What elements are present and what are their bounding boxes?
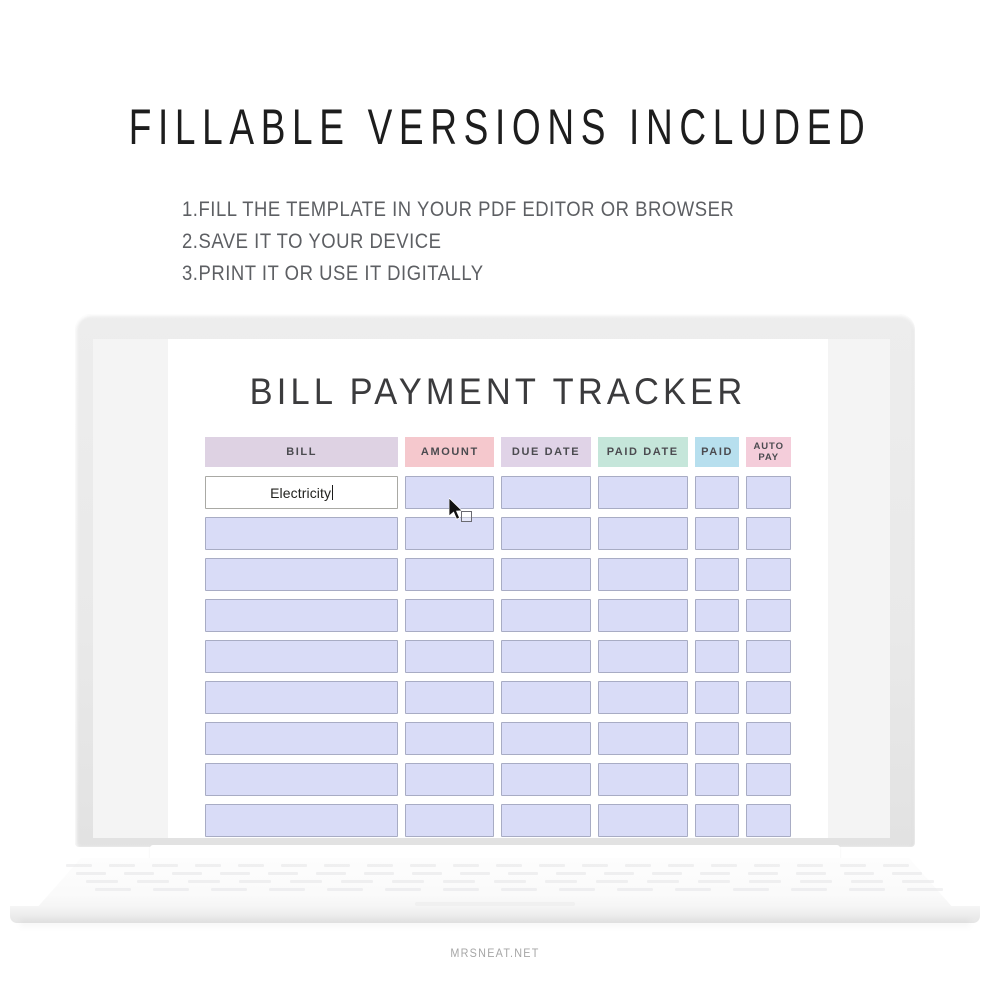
paid-input[interactable] (695, 476, 740, 509)
laptop-key (496, 864, 522, 867)
laptop-key (907, 888, 943, 891)
auto-pay-input[interactable] (746, 722, 791, 755)
paid-date-input[interactable] (598, 599, 688, 632)
column-header-amount: AMOUNT (405, 437, 494, 467)
bill-input-value: Electricity (270, 485, 331, 501)
auto-pay-input[interactable] (746, 558, 791, 591)
laptop-key (851, 880, 883, 883)
column-header-bill: BILL (205, 437, 398, 467)
table-row (205, 763, 791, 796)
laptop-shadow (20, 920, 970, 929)
laptop-key (364, 872, 394, 875)
bill-input[interactable] (205, 722, 398, 755)
laptop-key (152, 864, 178, 867)
bill-input[interactable] (205, 681, 398, 714)
laptop-key (617, 888, 653, 891)
document-page: BILL PAYMENT TRACKER BILL AMOUNT DUE DAT… (168, 339, 828, 838)
laptop-key (675, 888, 711, 891)
text-caret (332, 485, 333, 500)
laptop-key (327, 888, 363, 891)
bill-input[interactable] (205, 558, 398, 591)
laptop-key (188, 880, 220, 883)
laptop-screen: BILL PAYMENT TRACKER BILL AMOUNT DUE DAT… (93, 339, 890, 838)
laptop-key (239, 880, 271, 883)
laptop-key (647, 880, 679, 883)
laptop-key (559, 888, 595, 891)
table-row (205, 558, 791, 591)
paid-date-input[interactable] (598, 804, 688, 837)
laptop-key (392, 880, 424, 883)
paid-date-input[interactable] (598, 640, 688, 673)
due-date-input[interactable] (501, 558, 590, 591)
bill-input-active[interactable]: Electricity (205, 476, 398, 509)
bill-input[interactable] (205, 763, 398, 796)
laptop-key (748, 872, 778, 875)
bill-payment-table: BILL AMOUNT DUE DATE PAID DATE PAID (205, 437, 791, 838)
laptop-key (443, 888, 479, 891)
column-header-due-date-label: DUE DATE (512, 447, 580, 458)
table-row (205, 722, 791, 755)
amount-input[interactable] (405, 599, 494, 632)
due-date-input[interactable] (501, 640, 590, 673)
laptop-key (76, 872, 106, 875)
laptop-key (95, 888, 131, 891)
laptop-key (269, 888, 305, 891)
column-header-due-date: DUE DATE (501, 437, 590, 467)
due-date-input[interactable] (501, 476, 590, 509)
auto-pay-input[interactable] (746, 517, 791, 550)
paid-input[interactable] (695, 599, 740, 632)
paid-date-input[interactable] (598, 722, 688, 755)
laptop-key (172, 872, 202, 875)
laptop-key (754, 864, 780, 867)
table-body (205, 517, 791, 838)
laptop-key (840, 864, 866, 867)
laptop-key (86, 880, 118, 883)
laptop-key (211, 888, 247, 891)
laptop-key (800, 880, 832, 883)
laptop-key (137, 880, 169, 883)
amount-input[interactable] (405, 722, 494, 755)
laptop-key (698, 880, 730, 883)
paid-input[interactable] (695, 517, 740, 550)
laptop-key (797, 864, 823, 867)
column-header-paid-date-label: PAID DATE (607, 447, 679, 458)
laptop-key (443, 880, 475, 883)
due-date-input[interactable] (501, 763, 590, 796)
paid-input[interactable] (695, 640, 740, 673)
auto-pay-input[interactable] (746, 640, 791, 673)
laptop-key (124, 872, 154, 875)
auto-pay-input[interactable] (746, 763, 791, 796)
laptop-keys (60, 862, 930, 900)
paid-input[interactable] (695, 681, 740, 714)
auto-pay-input[interactable] (746, 476, 791, 509)
laptop-key (453, 864, 479, 867)
laptop-key (281, 864, 307, 867)
amount-input[interactable] (405, 558, 494, 591)
table-row (205, 599, 791, 632)
table-row (205, 681, 791, 714)
paid-date-input[interactable] (598, 681, 688, 714)
laptop-key (700, 872, 730, 875)
laptop-key (539, 864, 565, 867)
laptop-key (501, 888, 537, 891)
column-header-auto-pay-line1: AUTO (754, 441, 784, 452)
paid-date-input[interactable] (598, 763, 688, 796)
auto-pay-input[interactable] (746, 681, 791, 714)
paid-input[interactable] (695, 804, 740, 837)
paid-input[interactable] (695, 722, 740, 755)
laptop-key (268, 872, 298, 875)
laptop-key (494, 880, 526, 883)
paid-input[interactable] (695, 558, 740, 591)
amount-input[interactable] (405, 681, 494, 714)
auto-pay-input[interactable] (746, 804, 791, 837)
laptop-key (195, 864, 221, 867)
table-row (205, 804, 791, 837)
laptop-key (545, 880, 577, 883)
watermark: MRSNEAT.NET (50, 946, 941, 960)
due-date-input[interactable] (501, 517, 590, 550)
column-header-paid-label: PAID (701, 447, 733, 458)
laptop-key (652, 872, 682, 875)
auto-pay-input[interactable] (746, 599, 791, 632)
paid-date-input[interactable] (598, 517, 688, 550)
amount-input[interactable] (405, 804, 494, 837)
due-date-input[interactable] (501, 722, 590, 755)
bill-input[interactable] (205, 640, 398, 673)
table-row (205, 640, 791, 673)
laptop-key (883, 864, 909, 867)
amount-input[interactable] (405, 763, 494, 796)
laptop-key (324, 864, 350, 867)
laptop-key (556, 872, 586, 875)
paid-input[interactable] (695, 763, 740, 796)
column-header-paid: PAID (695, 437, 740, 467)
laptop-key (749, 880, 781, 883)
amount-input[interactable] (405, 517, 494, 550)
laptop-key (582, 864, 608, 867)
bill-input[interactable] (205, 599, 398, 632)
laptop-key (109, 864, 135, 867)
laptop-mockup: BILL PAYMENT TRACKER BILL AMOUNT DUE DAT… (0, 0, 990, 990)
laptop-key (791, 888, 827, 891)
laptop-key (290, 880, 322, 883)
laptop-key (508, 872, 538, 875)
laptop-key (220, 872, 250, 875)
paid-date-input[interactable] (598, 476, 688, 509)
laptop-key (460, 872, 490, 875)
column-header-auto-pay-line2: PAY (754, 452, 784, 463)
laptop-key (604, 872, 634, 875)
amount-input[interactable] (405, 476, 494, 509)
laptop-key (367, 864, 393, 867)
laptop-key (668, 864, 694, 867)
amount-input[interactable] (405, 640, 494, 673)
due-date-input[interactable] (501, 804, 590, 837)
table-row: Electricity (205, 476, 791, 509)
laptop-key (796, 872, 826, 875)
laptop-key (153, 888, 189, 891)
bill-input[interactable] (205, 804, 398, 837)
laptop-key (892, 872, 922, 875)
document-title: BILL PAYMENT TRACKER (191, 371, 805, 413)
column-header-amount-label: AMOUNT (421, 447, 479, 458)
table-header-row: BILL AMOUNT DUE DATE PAID DATE PAID (205, 437, 791, 467)
laptop-key (238, 864, 264, 867)
table-row (205, 517, 791, 550)
laptop-key (341, 880, 373, 883)
laptop-key (66, 864, 92, 867)
bill-input[interactable] (205, 517, 398, 550)
laptop-key (385, 888, 421, 891)
column-header-bill-label: BILL (286, 447, 317, 458)
laptop-key (844, 872, 874, 875)
paid-date-input[interactable] (598, 558, 688, 591)
laptop-key (412, 872, 442, 875)
column-header-auto-pay: AUTO PAY (746, 437, 791, 467)
laptop-key (316, 872, 346, 875)
due-date-input[interactable] (501, 599, 590, 632)
laptop-key (733, 888, 769, 891)
column-header-paid-date: PAID DATE (598, 437, 688, 467)
due-date-input[interactable] (501, 681, 590, 714)
laptop-key (711, 864, 737, 867)
laptop-key (849, 888, 885, 891)
laptop-key (625, 864, 651, 867)
laptop-key (410, 864, 436, 867)
laptop-key (596, 880, 628, 883)
laptop-key (902, 880, 934, 883)
